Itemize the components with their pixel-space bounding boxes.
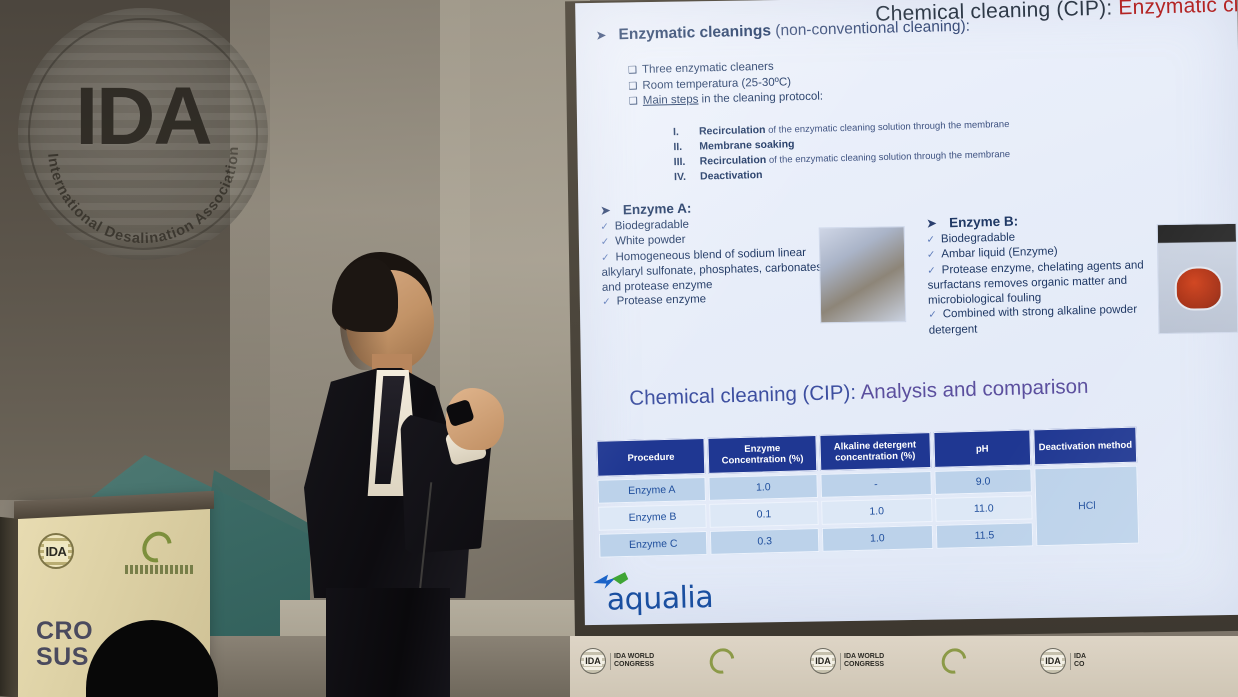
banner-congress-line1: IDA WORLD (614, 653, 654, 662)
sub-bullet-text: Room temperatura (25-30ºC) (642, 76, 791, 92)
banner-congress-text: IDA WORLD CONGRESS (840, 653, 884, 670)
list-item: ✓Homogeneous blend of sodium linear alky… (601, 245, 832, 295)
sub-bullet-underline: Main steps (643, 94, 699, 107)
check-bullet-icon: ✓ (600, 221, 609, 232)
cell-deactivation: HCl (1035, 466, 1140, 547)
slide2-title-b: Analysis and comparison (860, 375, 1088, 404)
podium-headline-line1: CRO (36, 618, 93, 644)
projection-screen: Chemical cleaning (CIP): Enzymatic clean… (575, 0, 1238, 625)
slide1-bullet-light: (non-conventional cleaning): (771, 18, 970, 40)
slide1-protocol-steps: I.Recirculation of the enzymatic cleanin… (673, 117, 1011, 185)
check-bullet-icon: ✓ (601, 237, 610, 248)
list-item: ✓Protease enzyme, chelating agents and s… (927, 258, 1158, 308)
step-number: I. (673, 125, 699, 141)
enzyme-b-block: ➤Enzyme B: ✓Biodegradable ✓Ambar liquid … (926, 211, 1159, 338)
cell-procedure: Enzyme C (599, 531, 708, 558)
checkbox-bullet-icon: ❑ (629, 96, 638, 107)
banner-congress-line2: CO (1074, 661, 1086, 670)
banner-ida-label: IDA (1044, 656, 1062, 666)
slide2-title: Chemical cleaning (CIP): Analysis and co… (629, 375, 1089, 411)
enzyme-a-item: White powder (615, 234, 686, 248)
enzyme-a-heading: Enzyme A: (623, 201, 692, 218)
sponsor-arabic-text (125, 565, 195, 574)
cell-enzyme-conc: 1.0 (709, 474, 818, 501)
banner-congress-text: IDA CO (1070, 653, 1086, 670)
banner-ida-icon: IDA (580, 648, 606, 674)
podium-ida-logo: IDA (38, 533, 74, 569)
arrow-bullet-icon: ➤ (595, 27, 606, 43)
cell-alkaline-conc: 1.0 (822, 525, 933, 552)
cell-alkaline-conc: - (820, 471, 931, 498)
sponsor-ring-icon (136, 526, 177, 568)
podium-ida-label: IDA (44, 544, 69, 559)
enzyme-b-item: Biodegradable (941, 231, 1015, 245)
ida-wall-logo: IDA International Desalination Associati… (18, 8, 268, 260)
enzyme-b-beaker (1174, 266, 1223, 311)
slide1-bullet-bold: Enzymatic cleanings (618, 22, 771, 43)
sub-bullet-text: in the cleaning protocol: (698, 91, 823, 106)
check-bullet-icon: ✓ (928, 310, 937, 321)
enzyme-b-photo (1157, 223, 1238, 334)
slide-enzymatic-cleaning: Chemical cleaning (CIP): Enzymatic clean… (575, 0, 1238, 375)
col-procedure: Procedure (596, 438, 705, 477)
cell-enzyme-conc: 0.3 (710, 528, 819, 555)
cell-procedure: Enzyme A (597, 477, 706, 504)
check-bullet-icon: ✓ (601, 252, 610, 263)
enzyme-b-item: Protease enzyme, chelating agents and su… (928, 259, 1144, 306)
enzyme-a-item: Biodegradable (615, 218, 689, 232)
arrow-bullet-icon: ➤ (600, 204, 611, 219)
step-number: III. (674, 155, 700, 171)
banner-congress-line2: CONGRESS (844, 661, 884, 670)
banner-congress-text: IDA WORLD CONGRESS (610, 653, 654, 670)
enzyme-a-photo (819, 226, 906, 323)
list-item: ❑Main steps in the cleaning protocol: (629, 90, 824, 110)
sponsor-ring-icon (937, 643, 972, 678)
col-ph: pH (933, 429, 1032, 468)
slide1-main-bullet: ➤Enzymatic cleanings (non-conventional c… (595, 16, 1015, 44)
check-bullet-icon: ✓ (927, 265, 936, 276)
slide2-title-a: Chemical cleaning (CIP): (629, 381, 861, 410)
cell-ph: 11.5 (935, 522, 1033, 549)
step-bold: Recirculation (700, 154, 767, 168)
banner-congress-line1: IDA WORLD (844, 653, 884, 662)
enzyme-b-item: Ambar liquid (Enzyme) (941, 246, 1058, 261)
banner-logo-group: IDA IDA WORLD CONGRESS (580, 648, 654, 674)
arrow-bullet-icon: ➤ (926, 216, 937, 231)
enzyme-a-block: ➤Enzyme A: ✓Biodegradable ✓White powder … (600, 198, 833, 310)
step-number: II. (673, 140, 699, 156)
slide-analysis-comparison: Chemical cleaning (CIP): Analysis and co… (581, 365, 1238, 625)
banner-ida-label: IDA (814, 656, 832, 666)
step-bold: Membrane soaking (699, 138, 794, 152)
cell-alkaline-conc: 1.0 (821, 498, 932, 525)
col-deactivation-method: Deactivation method (1034, 427, 1138, 466)
banner-sponsor-logo (942, 648, 966, 674)
banner-ida-label: IDA (584, 656, 602, 666)
check-bullet-icon: ✓ (926, 234, 935, 245)
enzyme-a-item: Protease enzyme (616, 293, 706, 307)
speaker-hair-front (332, 258, 398, 332)
col-enzyme-concentration: Enzyme Concentration (%) (708, 435, 818, 474)
enzyme-b-item: Combined with strong alkaline powder det… (929, 304, 1138, 337)
cell-ph: 11.0 (935, 495, 1033, 522)
ida-logo-letters: IDA (18, 70, 268, 164)
check-bullet-icon: ✓ (927, 250, 936, 261)
sub-bullet-text: Three enzymatic cleaners (642, 61, 774, 76)
podium-headline: CRO SUS (36, 618, 93, 670)
banner-congress-line2: CONGRESS (614, 661, 654, 670)
checkbox-bullet-icon: ❑ (628, 65, 637, 76)
cell-enzyme-conc: 0.1 (709, 501, 818, 528)
step-number: IV. (674, 170, 700, 186)
enzyme-b-heading: Enzyme B: (949, 214, 1018, 231)
speaker-trousers (326, 588, 450, 697)
cell-procedure: Enzyme B (598, 504, 707, 531)
step-bold: Deactivation (700, 169, 763, 183)
cip-comparison-table: Procedure Enzyme Concentration (%) Alkal… (593, 424, 1142, 561)
sponsor-banner: IDA IDA WORLD CONGRESS IDA IDA WORLD CON… (570, 636, 1238, 697)
col-alkaline-detergent: Alkaline detergent concentration (%) (819, 432, 931, 471)
enzyme-a-item: Homogeneous blend of sodium linear alkyl… (601, 246, 822, 293)
speaker-presenter (296, 252, 506, 697)
banner-ida-icon: IDA (1040, 648, 1066, 674)
cell-ph: 9.0 (934, 468, 1032, 495)
sponsor-ring-icon (705, 643, 740, 678)
list-item: ✓Combined with strong alkaline powder de… (928, 302, 1159, 338)
banner-logo-group: IDA IDA CO (1040, 648, 1086, 674)
slide1-title-accent: Enzymatic cleani (1118, 0, 1238, 19)
banner-ida-icon: IDA (810, 648, 836, 674)
banner-logo-group: IDA IDA WORLD CONGRESS (810, 648, 884, 674)
aqualia-wordmark: aqualia (606, 580, 713, 618)
checkbox-bullet-icon: ❑ (628, 81, 637, 92)
slide1-sub-bullets: ❑Three enzymatic cleaners ❑Room temperat… (628, 59, 823, 110)
podium-headline-line2: SUS (36, 644, 93, 670)
step-bold: Recirculation (699, 124, 766, 138)
banner-sponsor-logo (710, 648, 734, 674)
check-bullet-icon: ✓ (602, 297, 611, 308)
banner-congress-line1: IDA (1074, 653, 1086, 662)
conference-photo-scene: IDA International Desalination Associati… (0, 0, 1238, 697)
podium-sponsor-logo (143, 531, 177, 567)
